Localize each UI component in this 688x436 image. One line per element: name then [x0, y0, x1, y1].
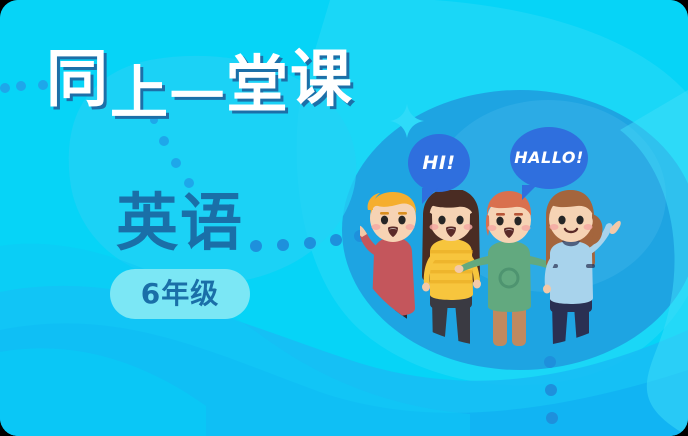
dot	[171, 158, 181, 168]
kid-ponytail-girl	[543, 190, 621, 346]
dot	[16, 81, 26, 91]
speech-bubble-hi-text: HI!	[422, 154, 455, 173]
dot	[544, 356, 556, 368]
dot	[546, 412, 558, 424]
dot	[159, 136, 169, 146]
course-title: 同 上 一 堂 课	[46, 48, 346, 132]
dot	[330, 234, 342, 246]
dot	[545, 384, 557, 396]
speech-bubble-hi: HI!	[408, 134, 470, 192]
title-char-5: 课	[290, 48, 352, 110]
grade-badge: 6年级	[110, 269, 250, 319]
grade-badge-label: 6年级	[141, 280, 219, 308]
kid-brown-hair-girl	[422, 190, 481, 348]
kid-blond-boy	[360, 192, 416, 340]
dot	[277, 239, 289, 251]
title-char-4: 堂	[226, 54, 288, 116]
dot	[0, 83, 10, 93]
dot	[250, 240, 262, 252]
title-char-2: 上	[110, 64, 168, 122]
course-cover-card: HI! HALLO! 同 上 一 堂 课 英语 6年级	[0, 0, 688, 436]
speech-bubble-hallo: HALLO!	[510, 127, 588, 189]
title-char-1: 同	[46, 48, 108, 110]
speech-bubble-hi-tail	[422, 188, 438, 204]
sparkle-icon	[390, 104, 424, 138]
kids-illustration	[360, 190, 660, 355]
title-char-3: 一	[170, 70, 224, 124]
dot	[304, 237, 316, 249]
speech-bubble-hallo-text: HALLO!	[514, 150, 584, 166]
subject-label: 英语	[116, 192, 244, 254]
speech-bubble-hallo-tail	[522, 185, 537, 200]
